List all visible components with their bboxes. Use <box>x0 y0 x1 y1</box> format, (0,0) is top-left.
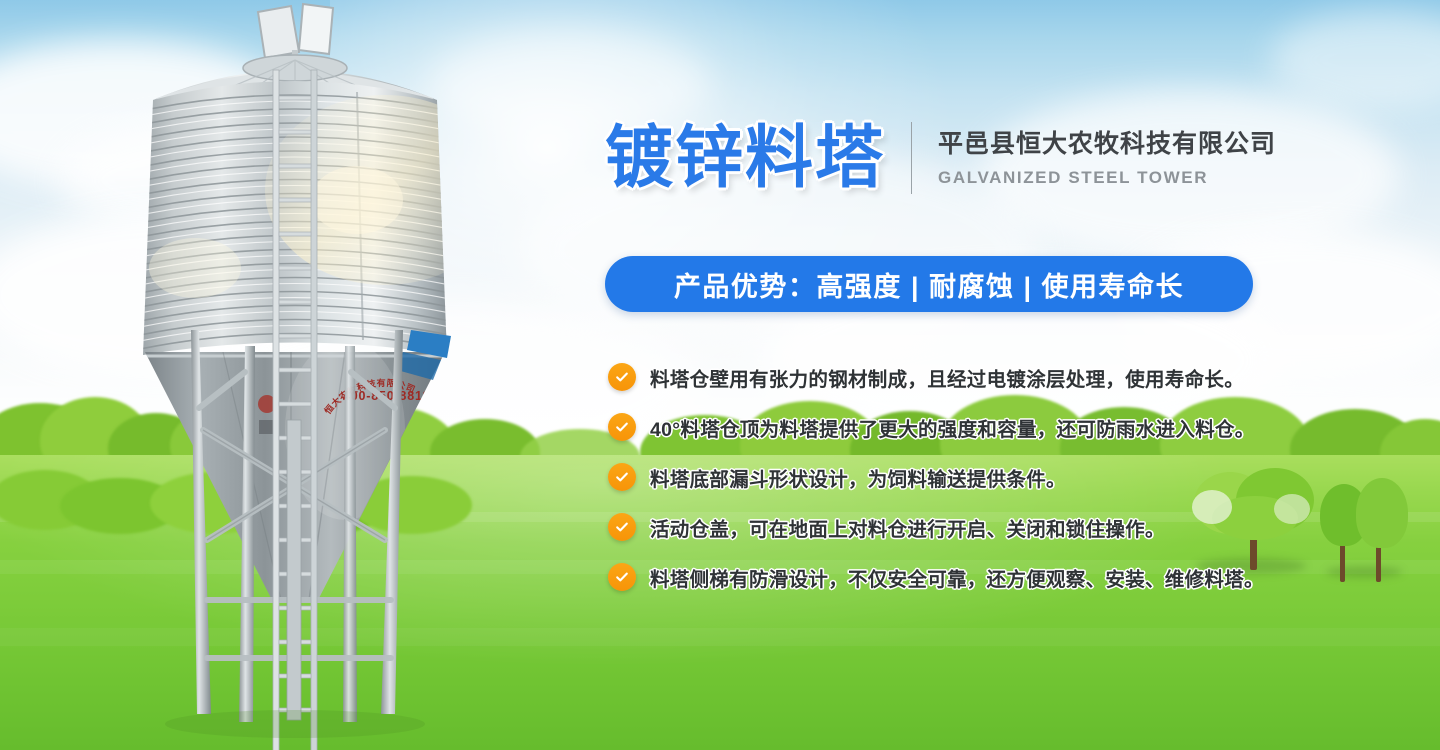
feature-text: 料塔仓壁用有张力的钢材制成，且经过电镀涂层处理，使用寿命长。 <box>650 363 1244 392</box>
feature-list: 料塔仓壁用有张力的钢材制成，且经过电镀涂层处理，使用寿命长。 40°料塔仓顶为料… <box>608 352 1308 602</box>
check-circle-icon <box>608 513 636 541</box>
check-circle-icon <box>608 563 636 591</box>
company-block: 平邑县恒大农牧科技有限公司 GALVANIZED STEEL TOWER <box>938 129 1276 188</box>
feature-text: 料塔侧梯有防滑设计，不仅安全可靠，还方便观察、安装、维修料塔。 <box>650 563 1264 592</box>
grain-silo-image: 恒大农牧科技有限公司 400-850-8819 <box>95 0 495 750</box>
hero-banner: 恒大农牧科技有限公司 400-850-8819 <box>0 0 1440 750</box>
english-subtitle: GALVANIZED STEEL TOWER <box>938 168 1276 188</box>
advantage-pill: 产品优势：高强度 | 耐腐蚀 | 使用寿命长 <box>605 256 1253 312</box>
title-divider <box>911 122 912 194</box>
check-circle-icon <box>608 363 636 391</box>
feature-text: 料塔底部漏斗形状设计，为饲料输送提供条件。 <box>650 463 1066 492</box>
check-circle-icon <box>608 413 636 441</box>
feature-text: 40°料塔仓顶为料塔提供了更大的强度和容量，还可防雨水进入料仓。 <box>650 413 1255 442</box>
list-item: 40°料塔仓顶为料塔提供了更大的强度和容量，还可防雨水进入料仓。 <box>608 402 1308 452</box>
list-item: 料塔仓壁用有张力的钢材制成，且经过电镀涂层处理，使用寿命长。 <box>608 352 1308 402</box>
banner-content: 镀锌料塔 平邑县恒大农牧科技有限公司 GALVANIZED STEEL TOWE… <box>600 0 1300 750</box>
tree <box>1318 478 1414 574</box>
advantage-pill-text: 产品优势：高强度 | 耐腐蚀 | 使用寿命长 <box>674 265 1184 304</box>
feature-text: 活动仓盖，可在地面上对料仓进行开启、关闭和锁住操作。 <box>650 513 1165 542</box>
page-title: 镀锌料塔 <box>605 124 885 192</box>
title-row: 镀锌料塔 平邑县恒大农牧科技有限公司 GALVANIZED STEEL TOWE… <box>605 122 1276 194</box>
company-name: 平邑县恒大农牧科技有限公司 <box>938 129 1276 159</box>
list-item: 料塔侧梯有防滑设计，不仅安全可靠，还方便观察、安装、维修料塔。 <box>608 552 1308 602</box>
list-item: 料塔底部漏斗形状设计，为饲料输送提供条件。 <box>608 452 1308 502</box>
check-circle-icon <box>608 463 636 491</box>
list-item: 活动仓盖，可在地面上对料仓进行开启、关闭和锁住操作。 <box>608 502 1308 552</box>
